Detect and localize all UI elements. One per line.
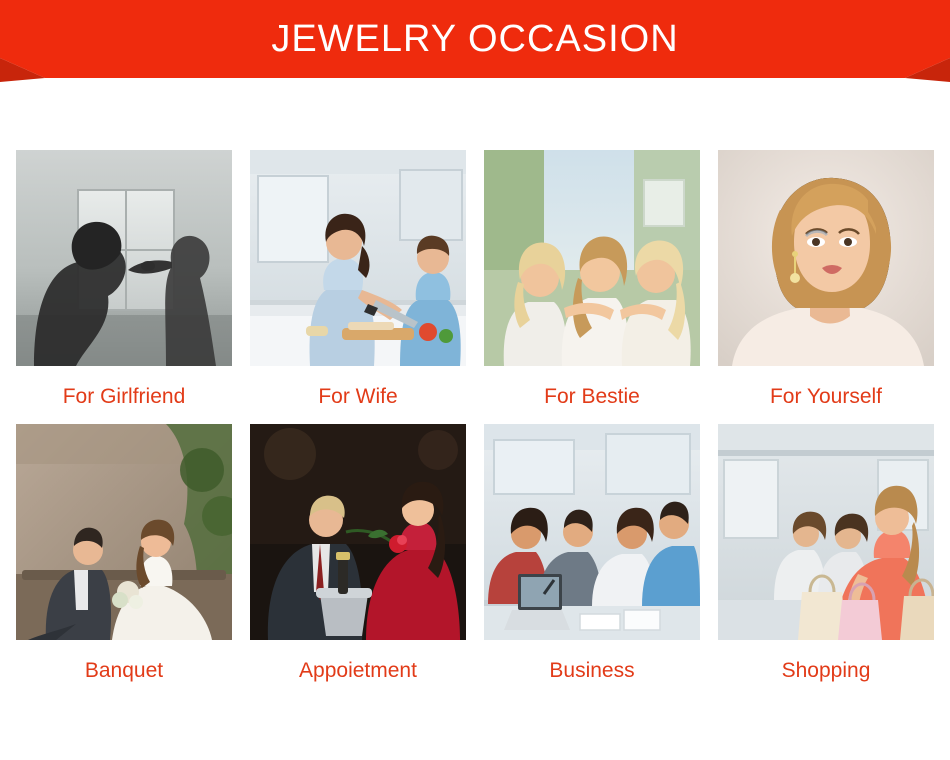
occasion-card-business[interactable]: Business — [484, 424, 700, 692]
occasion-card-for-girlfriend[interactable]: For Girlfriend — [16, 150, 232, 418]
photo-bride-groom-art — [16, 424, 232, 640]
photo-woman-portrait-art — [718, 150, 934, 366]
occasion-caption: Appoietment — [299, 650, 417, 692]
photo-three-friends-art — [484, 150, 700, 366]
occasion-card-for-yourself[interactable]: For Yourself — [718, 150, 934, 418]
occasion-card-for-wife[interactable]: For Wife — [250, 150, 466, 418]
occasion-caption: For Girlfriend — [63, 376, 186, 418]
photo-bride-groom-bench — [16, 424, 232, 640]
photo-couple-rose-champagne — [250, 424, 466, 640]
photo-couple-kitchen-art — [250, 150, 466, 366]
occasion-card-for-bestie[interactable]: For Bestie — [484, 150, 700, 418]
page-title: JEWELRY OCCASION — [0, 0, 950, 78]
photo-team-meeting-laptop — [484, 424, 700, 640]
page-banner: JEWELRY OCCASION — [0, 0, 950, 82]
photo-woman-portrait-earrings — [718, 150, 934, 366]
occasion-caption: For Yourself — [770, 376, 882, 418]
photo-team-meeting-art — [484, 424, 700, 640]
occasion-caption: Shopping — [782, 650, 871, 692]
occasion-caption: For Wife — [318, 376, 397, 418]
photo-women-shopping-bags — [718, 424, 934, 640]
grid-row: Banquet — [0, 424, 950, 692]
occasion-caption: For Bestie — [544, 376, 640, 418]
photo-three-friends-hugging — [484, 150, 700, 366]
photo-women-shopping-art — [718, 424, 934, 640]
photo-couple-silhouette-art — [16, 150, 232, 366]
photo-couple-rose-art — [250, 424, 466, 640]
occasion-caption: Business — [549, 650, 634, 692]
grid-row: For Girlfriend — [0, 150, 950, 418]
occasion-card-banquet[interactable]: Banquet — [16, 424, 232, 692]
photo-couple-kitchen-cooking — [250, 150, 466, 366]
occasion-card-shopping[interactable]: Shopping — [718, 424, 934, 692]
photo-couple-silhouette — [16, 150, 232, 366]
occasion-grid: For Girlfriend — [0, 82, 950, 692]
occasion-caption: Banquet — [85, 650, 163, 692]
occasion-card-appointment[interactable]: Appoietment — [250, 424, 466, 692]
